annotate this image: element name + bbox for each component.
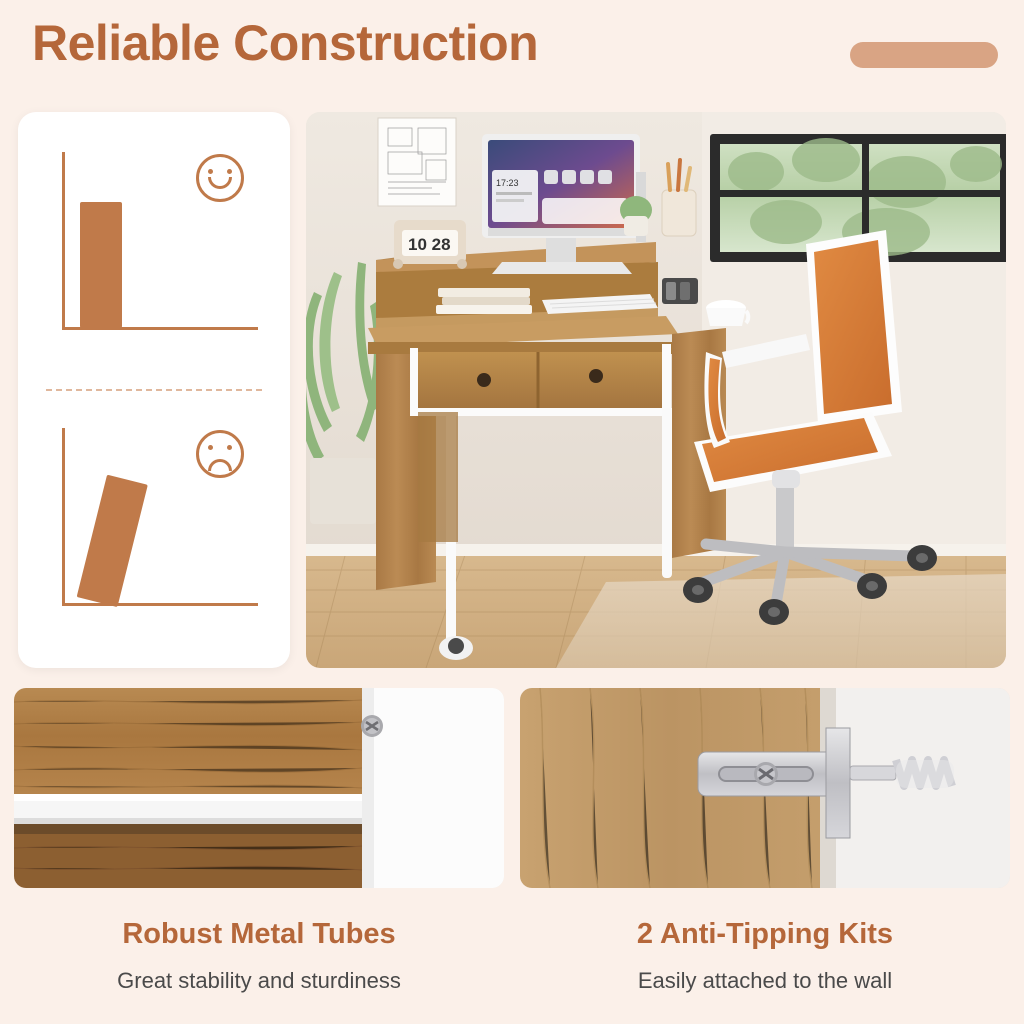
axis-vertical-line (62, 152, 65, 330)
axis-horizontal-line (62, 603, 258, 606)
metal-tube-closeup-photo (14, 688, 504, 888)
axis-vertical-line (62, 428, 65, 606)
stability-comparison-diagram (18, 112, 290, 668)
svg-text:17:23: 17:23 (496, 178, 519, 188)
desk-leg-upright (80, 202, 122, 328)
smiley-mouth (208, 177, 232, 189)
smiley-face-icon (196, 154, 244, 202)
sad-eye-left (208, 445, 213, 450)
sad-face-icon (196, 430, 244, 478)
smiley-eye-left (208, 169, 213, 174)
sad-mouth (208, 459, 232, 471)
svg-text:10 28: 10 28 (408, 235, 451, 254)
feature-subtitle-metal-tubes: Great stability and sturdiness (14, 968, 504, 994)
sad-eye-right (227, 445, 232, 450)
diagram-unstable-panel (18, 390, 290, 668)
feature-title-metal-tubes: Robust Metal Tubes (14, 918, 504, 951)
feature-subtitle-anti-tipping: Easily attached to the wall (520, 968, 1010, 994)
header: Reliable Construction (0, 0, 1024, 100)
anti-tipping-kit-closeup-photo (520, 688, 1010, 888)
diagram-stable-panel (18, 112, 290, 390)
desk-leg-tilted (77, 475, 148, 607)
smiley-eye-right (227, 169, 232, 174)
feature-title-anti-tipping: 2 Anti-Tipping Kits (520, 918, 1010, 951)
desk-room-scene: 17:23 (306, 112, 1006, 668)
page-title: Reliable Construction (32, 14, 538, 72)
header-accent-bar (850, 42, 998, 68)
